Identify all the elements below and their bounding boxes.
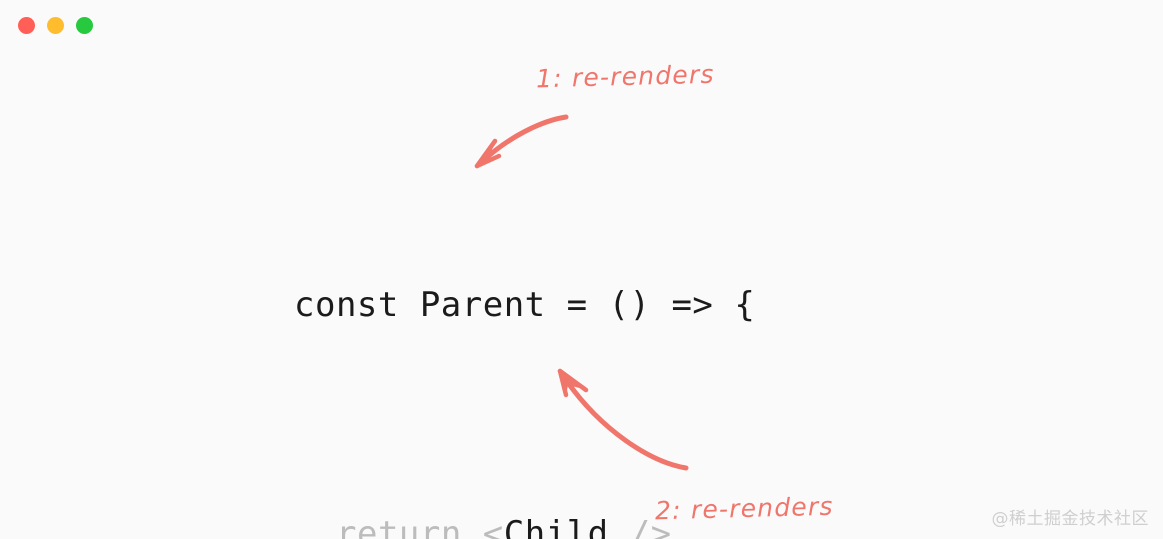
window-controls	[18, 17, 93, 34]
code-token-angle-open: <	[483, 514, 504, 539]
code-block: const Parent = () => { return <Child /> …	[294, 190, 755, 539]
code-token-child: Child	[504, 514, 609, 539]
watermark: @稀土掘金技术社区	[992, 504, 1150, 529]
code-line-1: const Parent = () => {	[294, 282, 755, 328]
app-window: const Parent = () => { return <Child /> …	[0, 0, 1163, 539]
code-token-return: return	[336, 514, 483, 539]
minimize-button[interactable]	[47, 17, 64, 34]
arrow-top	[477, 117, 566, 166]
annotation-label-bottom: 2: re-renders	[655, 492, 834, 526]
title-bar	[0, 0, 1163, 52]
maximize-button[interactable]	[76, 17, 93, 34]
annotation-label-top: 1: re-renders	[536, 60, 715, 94]
code-token-const-parent: const Parent = () => {	[294, 285, 755, 325]
close-button[interactable]	[18, 17, 35, 34]
